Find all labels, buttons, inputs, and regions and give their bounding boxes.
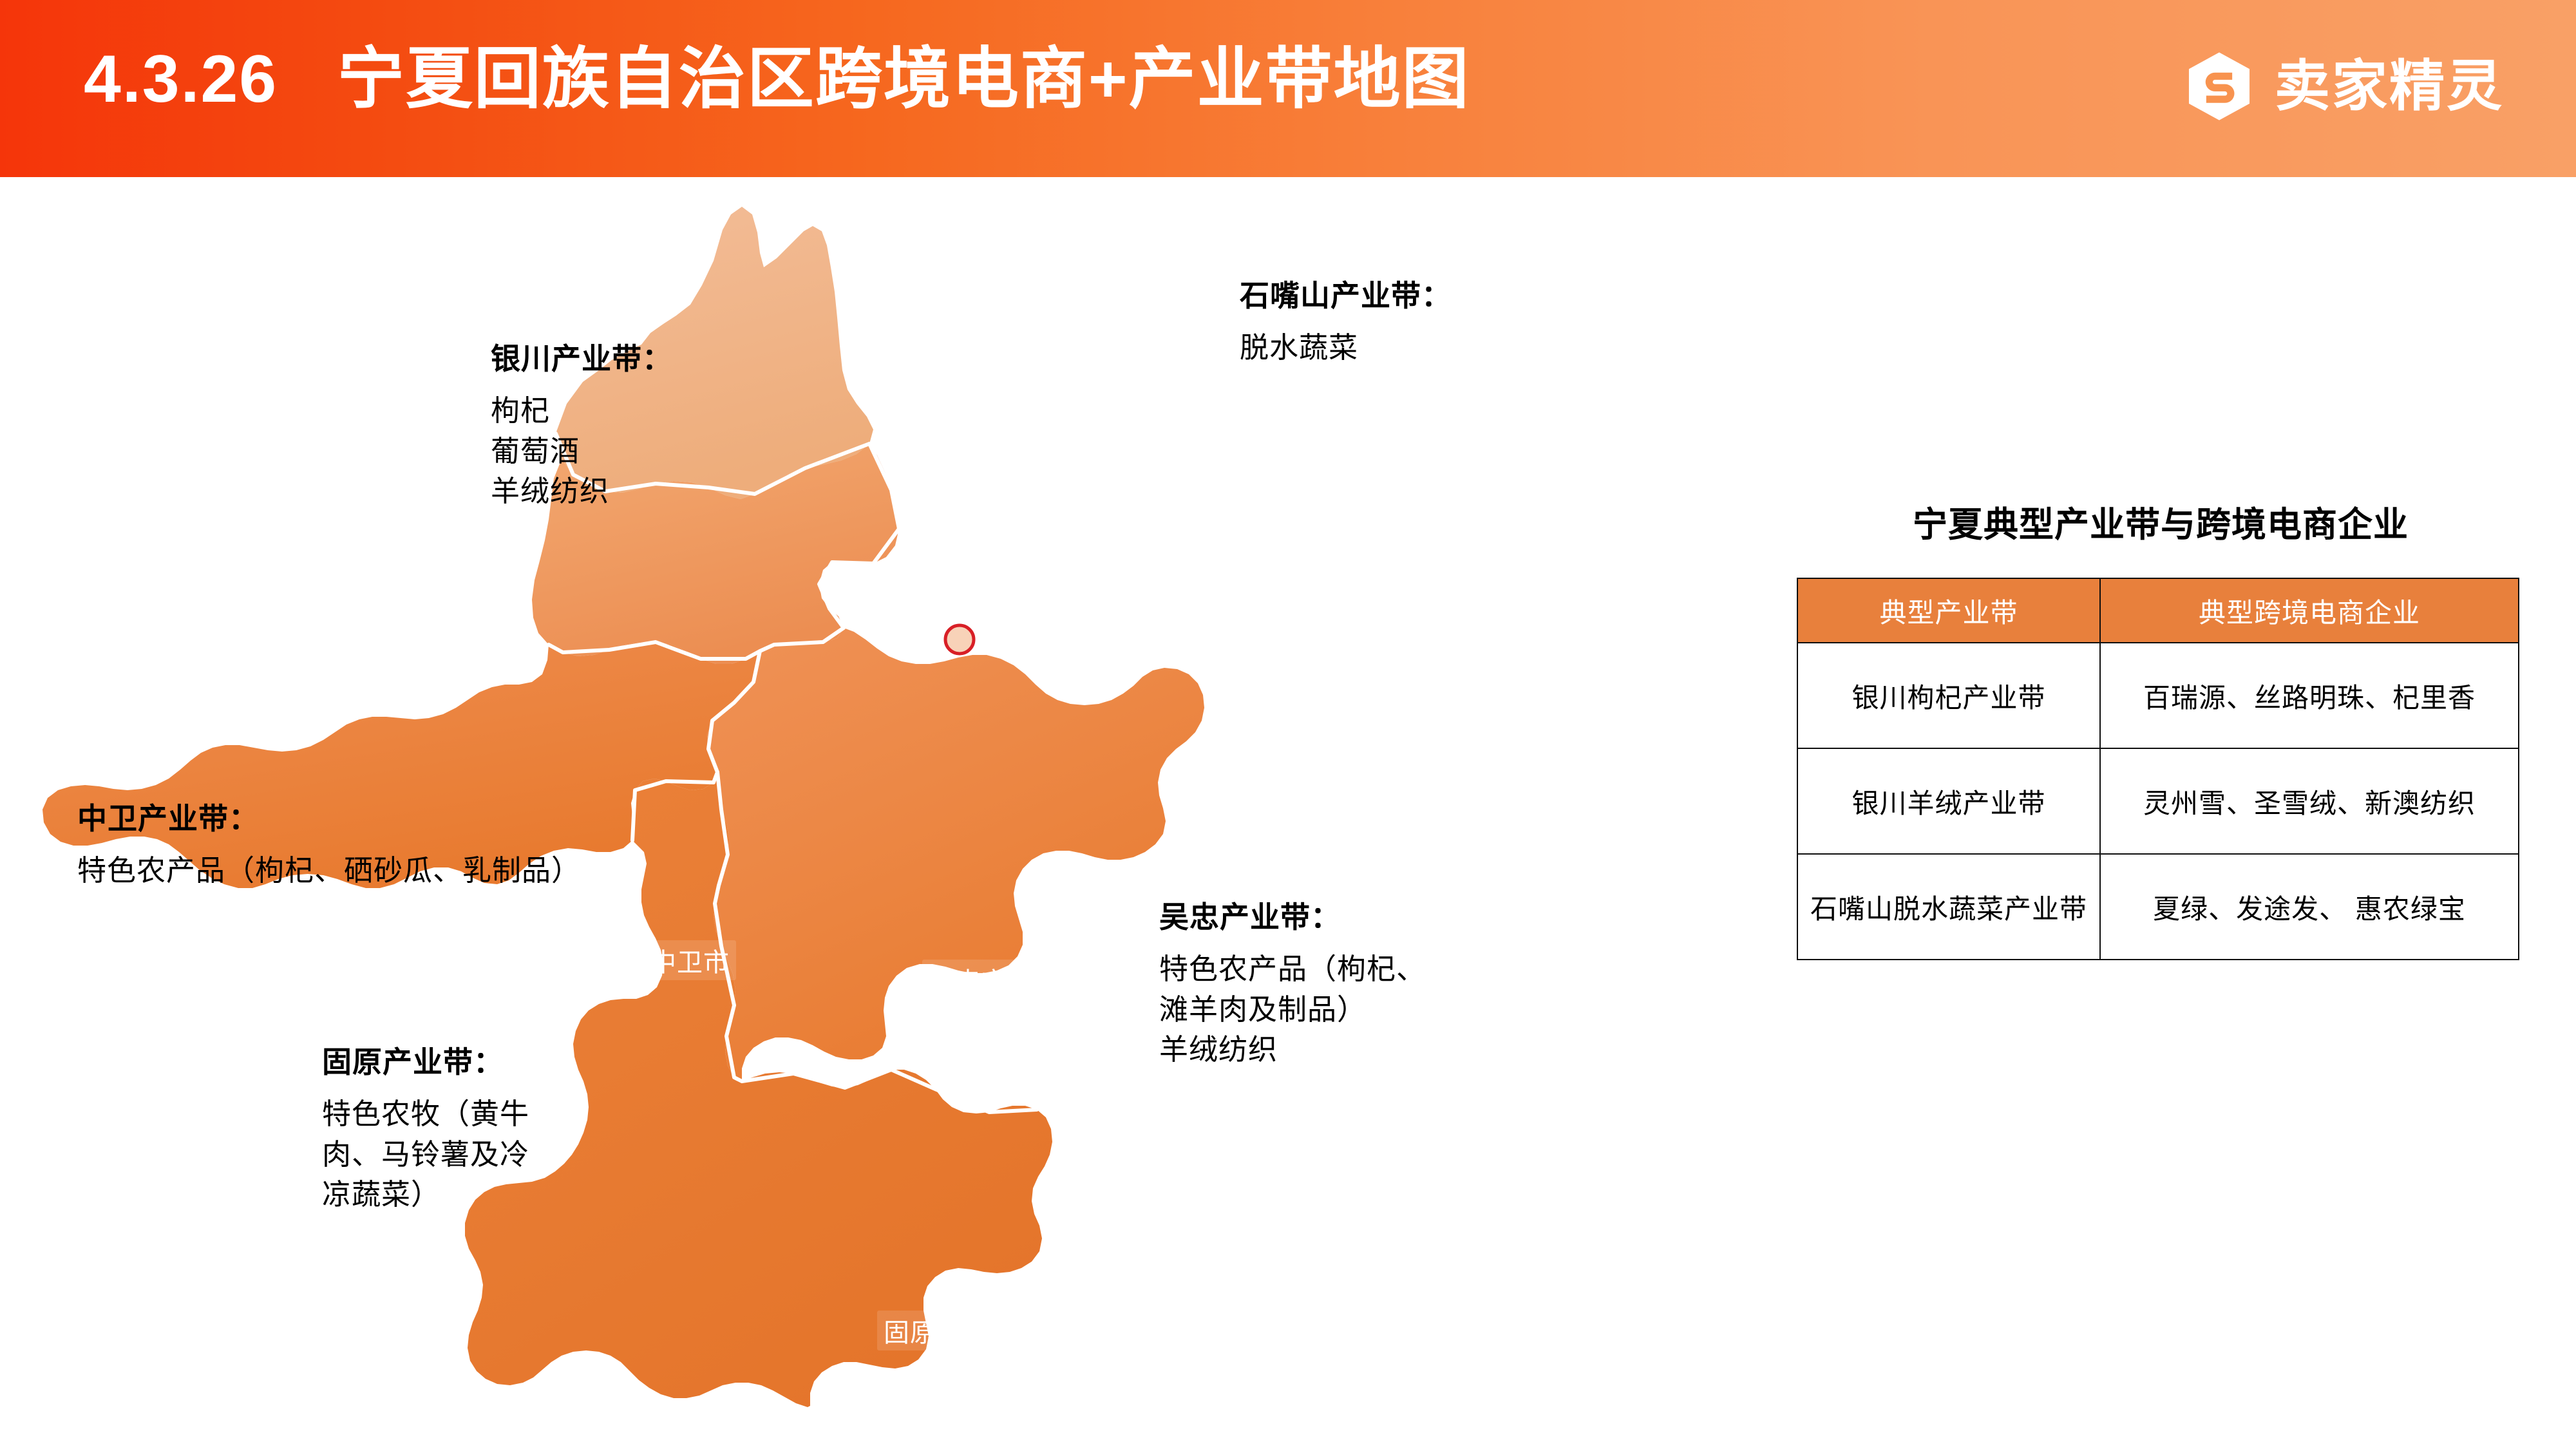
brand-logo: 卖家精灵 bbox=[2183, 50, 2504, 122]
hexagon-s-logo-icon bbox=[2183, 50, 2255, 122]
table-cell-companies: 夏绿、发途发、 惠农绿宝 bbox=[2100, 854, 2519, 960]
table-cell-companies: 百瑞源、丝路明珠、杞里香 bbox=[2100, 643, 2519, 748]
callout-shizuishan: 石嘴山产业带： 脱水蔬菜 bbox=[1240, 264, 1452, 380]
table-cell-belt: 银川枸杞产业带 bbox=[1797, 643, 2100, 748]
callout-zhongwei-title: 中卫产业带： bbox=[77, 799, 581, 839]
table-header-row: 典型产业带 典型跨境电商企业 bbox=[1797, 578, 2519, 643]
callout-zhongwei-body: 特色农产品（枸杞、硒砂瓜、乳制品） bbox=[77, 851, 581, 891]
table-cell-belt: 石嘴山脱水蔬菜产业带 bbox=[1797, 854, 2100, 960]
callout-shizuishan-body: 脱水蔬菜 bbox=[1240, 328, 1452, 368]
map-region-wuzhong[interactable] bbox=[707, 628, 1204, 1081]
capital-circle-marker[interactable] bbox=[945, 625, 974, 654]
callout-yinchuan: 银川产业带： 枸杞 葡萄酒 羊绒纺织 bbox=[491, 327, 672, 523]
callout-wuzhong-body: 特色农产品（枸杞、 滩羊肉及制品） 羊绒纺织 bbox=[1159, 949, 1426, 1069]
page-header: 4.3.26 宁夏回族自治区跨境电商+产业带地图 卖家精灵 bbox=[0, 0, 2576, 177]
callout-shizuishan-title: 石嘴山产业带： bbox=[1240, 276, 1452, 316]
panel-title: 宁夏典型产业带与跨境电商企业 bbox=[1790, 496, 2531, 547]
callout-yinchuan-title: 银川产业带： bbox=[491, 339, 672, 379]
table-header-companies: 典型跨境电商企业 bbox=[2100, 578, 2519, 643]
callout-wuzhong-title: 吴忠产业带： bbox=[1159, 897, 1426, 938]
table-cell-belt: 银川羊绒产业带 bbox=[1797, 748, 2100, 854]
table-cell-companies: 灵州雪、圣雪绒、新澳纺织 bbox=[2100, 748, 2519, 854]
callout-guyuan-title: 固原产业带： bbox=[322, 1042, 529, 1083]
callout-guyuan: 固原产业带： 特色农牧（黄牛 肉、马铃薯及冷 凉蔬菜） bbox=[322, 1030, 529, 1226]
callout-yinchuan-body: 枸杞 葡萄酒 羊绒纺织 bbox=[491, 391, 672, 511]
page-title: 4.3.26 宁夏回族自治区跨境电商+产业带地图 bbox=[84, 43, 1470, 116]
table-row: 石嘴山脱水蔬菜产业带 夏绿、发途发、 惠农绿宝 bbox=[1797, 854, 2519, 960]
table-row: 银川枸杞产业带 百瑞源、丝路明珠、杞里香 bbox=[1797, 643, 2519, 748]
callout-guyuan-body: 特色农牧（黄牛 肉、马铃薯及冷 凉蔬菜） bbox=[322, 1094, 529, 1214]
table-row: 银川羊绒产业带 灵州雪、圣雪绒、新澳纺织 bbox=[1797, 748, 2519, 854]
callout-zhongwei: 中卫产业带： 特色农产品（枸杞、硒砂瓜、乳制品） bbox=[77, 787, 581, 903]
industry-table-panel: 宁夏典型产业带与跨境电商企业 典型产业带 典型跨境电商企业 银川枸杞产业带 百瑞… bbox=[1790, 496, 2531, 960]
industry-table: 典型产业带 典型跨境电商企业 银川枸杞产业带 百瑞源、丝路明珠、杞里香 银川羊绒… bbox=[1797, 578, 2519, 960]
callout-wuzhong: 吴忠产业带： 特色农产品（枸杞、 滩羊肉及制品） 羊绒纺织 bbox=[1159, 885, 1426, 1081]
table-header-industry-belt: 典型产业带 bbox=[1797, 578, 2100, 643]
brand-name: 卖家精灵 bbox=[2275, 59, 2504, 114]
